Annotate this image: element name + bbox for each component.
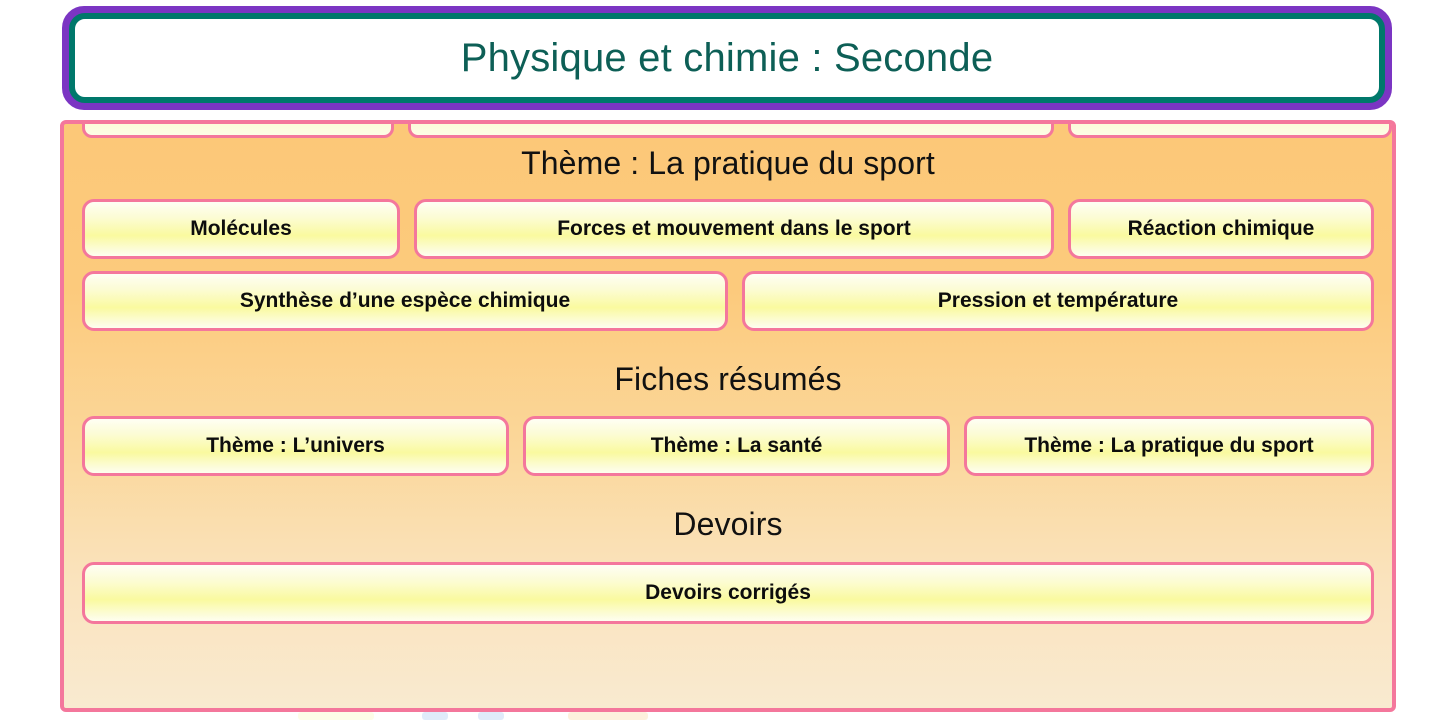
title-bar-inner: Physique et chimie : Seconde: [69, 13, 1385, 103]
button-devoirs-corriges[interactable]: Devoirs corrigés: [82, 562, 1374, 624]
button-molecules[interactable]: Molécules: [82, 199, 400, 259]
button-synthese-d-une-espece-chimique[interactable]: Synthèse d’une espèce chimique: [82, 271, 728, 331]
panel-inner: Thème : La pratique du sport Molécules F…: [64, 124, 1392, 708]
below-chip-4: [568, 712, 648, 720]
button-forces-et-mouvement-dans-le-sport[interactable]: Forces et mouvement dans le sport: [414, 199, 1054, 259]
button-theme-la-sante[interactable]: Thème : La santé: [523, 416, 950, 476]
below-chip-2: [422, 712, 448, 720]
button-reaction-chimique[interactable]: Réaction chimique: [1068, 199, 1374, 259]
content-panel: Thème : La pratique du sport Molécules F…: [60, 120, 1396, 712]
title-bar: Physique et chimie : Seconde: [62, 6, 1392, 110]
page-title: Physique et chimie : Seconde: [461, 38, 994, 78]
below-chip-3: [478, 712, 504, 720]
section-heading-theme: Thème : La pratique du sport: [82, 145, 1374, 182]
fiches-button-row: Thème : L’univers Thème : La santé Thème…: [82, 416, 1374, 476]
button-theme-la-pratique-du-sport[interactable]: Thème : La pratique du sport: [964, 416, 1374, 476]
section-heading-fiches-resumes: Fiches résumés: [82, 361, 1374, 398]
below-chip-1: [298, 712, 374, 720]
section-heading-devoirs: Devoirs: [82, 506, 1374, 543]
theme-button-row-2: Synthèse d’une espèce chimique Pression …: [82, 271, 1374, 331]
devoirs-button-row: Devoirs corrigés: [82, 562, 1374, 624]
button-pression-et-temperature[interactable]: Pression et température: [742, 271, 1374, 331]
below-panel-ghost-content: [60, 712, 1396, 720]
button-theme-l-univers[interactable]: Thème : L’univers: [82, 416, 509, 476]
theme-button-row-1: Molécules Forces et mouvement dans le sp…: [82, 199, 1374, 259]
